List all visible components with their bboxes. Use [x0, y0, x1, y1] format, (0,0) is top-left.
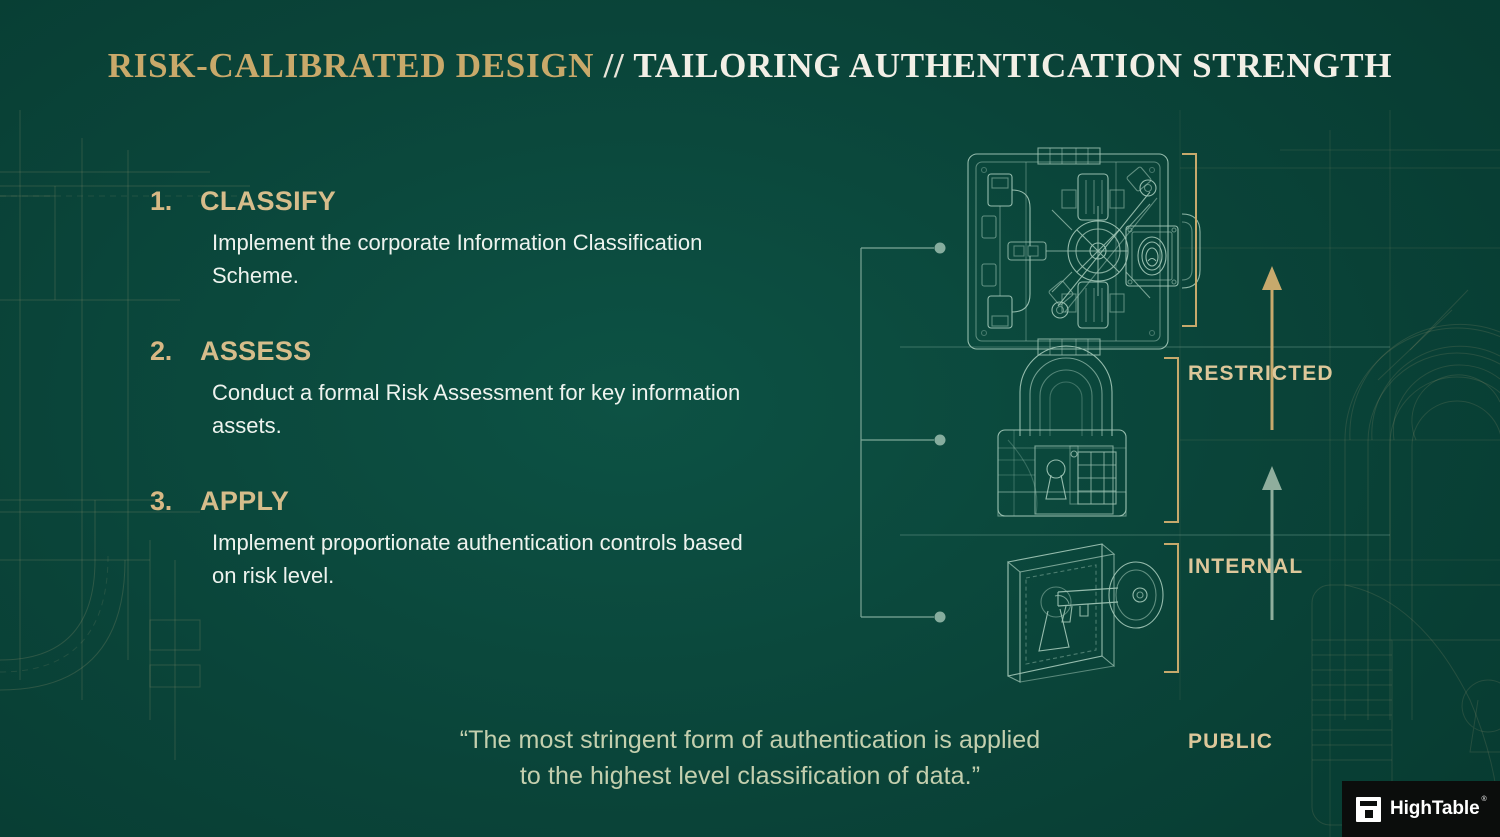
steps-list: 1. CLASSIFY Implement the corporate Info… [150, 186, 790, 593]
step-title: ASSESS [200, 336, 312, 367]
tier-bracket-public [1164, 544, 1178, 672]
hightable-mark-icon [1356, 797, 1381, 822]
step-number: 2. [150, 336, 200, 367]
tier-label-restricted: RESTRICTED [1188, 362, 1334, 386]
vault-door-icon [968, 148, 1200, 355]
connector-dots [935, 243, 946, 623]
tier-label-public: PUBLIC [1188, 730, 1273, 754]
pull-quote-line-2: to the highest level classification of d… [260, 759, 1240, 795]
slide-header: RISK-CALIBRATED DESIGN // TAILORING AUTH… [0, 46, 1500, 86]
hightable-logo: HighTable® [1342, 781, 1500, 837]
step-description: Conduct a formal Risk Assessment for key… [212, 376, 752, 443]
pull-quote-line-1: “The most stringent form of authenticati… [260, 723, 1240, 759]
page-title: RISK-CALIBRATED DESIGN // TAILORING AUTH… [0, 46, 1500, 86]
page-title-separator: // [604, 46, 625, 85]
step-description: Implement proportionate authentication c… [212, 526, 752, 593]
step-number: 1. [150, 186, 200, 217]
step-item: 2. ASSESS Conduct a formal Risk Assessme… [150, 336, 790, 443]
step-description: Implement the corporate Information Clas… [212, 226, 752, 293]
escalation-arrow-lower [1262, 466, 1282, 620]
tier-bracket-internal [1164, 358, 1178, 522]
registered-trademark-icon: ® [1482, 796, 1487, 803]
keyhole-key-icon [1008, 544, 1163, 682]
step-item: 1. CLASSIFY Implement the corporate Info… [150, 186, 790, 293]
step-title: CLASSIFY [200, 186, 336, 217]
step-number: 3. [150, 486, 200, 517]
hightable-wordmark-text: HighTable [1390, 798, 1480, 819]
pull-quote: “The most stringent form of authenticati… [260, 723, 1240, 794]
padlock-icon [998, 346, 1126, 516]
step-title: APPLY [200, 486, 289, 517]
connector-lines [861, 248, 934, 617]
escalation-arrow-upper [1262, 266, 1282, 430]
tier-label-internal: INTERNAL [1188, 555, 1303, 579]
slide: RISK-CALIBRATED DESIGN // TAILORING AUTH… [0, 0, 1500, 837]
classification-diagram: RESTRICTED INTERNAL PUBLIC [830, 130, 1450, 710]
hightable-wordmark: HighTable® [1390, 798, 1480, 820]
page-title-primary: RISK-CALIBRATED DESIGN [108, 46, 594, 85]
step-item: 3. APPLY Implement proportionate authent… [150, 486, 790, 593]
page-title-secondary: TAILORING AUTHENTICATION STRENGTH [633, 46, 1392, 85]
tier-bracket-restricted [1182, 154, 1196, 326]
